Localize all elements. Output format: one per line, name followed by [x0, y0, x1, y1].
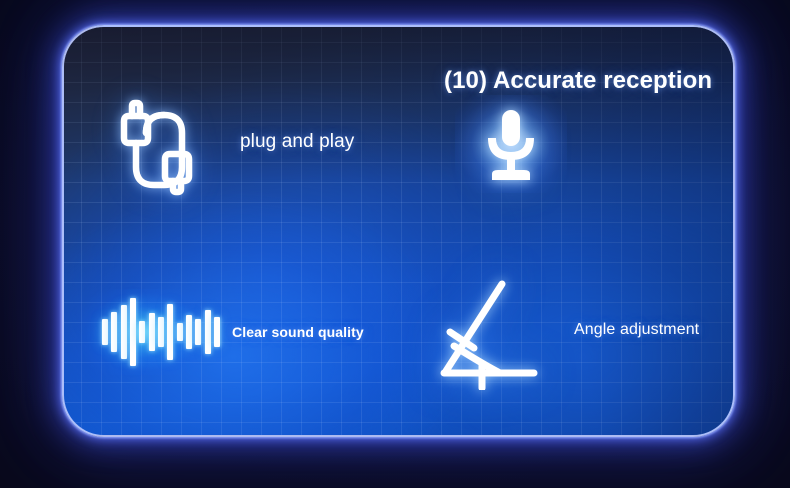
sound-wave-bar [186, 315, 192, 349]
sound-wave-bar [121, 305, 127, 359]
sound-wave-bar [149, 313, 155, 351]
angle-icon [434, 270, 542, 390]
microphone-icon-wrapper [456, 107, 566, 185]
feature-angle-adjustment: Angle adjustment [420, 255, 720, 405]
microphone-icon [480, 110, 542, 182]
feature-plug-and-play: plug and play [92, 67, 432, 217]
sound-wave-icon [102, 296, 220, 368]
sound-wave-bar [139, 321, 145, 343]
feature-label: (10) Accurate reception [444, 67, 712, 95]
feature-card: plug and play (10) Accurate reception [62, 25, 735, 437]
sound-wave-bar [177, 323, 183, 341]
sound-wave-bar [158, 317, 164, 347]
feature-label: plug and play [240, 131, 354, 153]
feature-label: Angle adjustment [574, 321, 699, 339]
sound-wave-bar [111, 312, 117, 352]
feature-clear-sound-quality: Clear sound quality [92, 272, 432, 392]
feature-label: Clear sound quality [232, 324, 364, 340]
sound-wave-bar [195, 319, 201, 345]
feature-accurate-reception: (10) Accurate reception [420, 67, 720, 217]
promo-graphic: plug and play (10) Accurate reception [0, 0, 790, 488]
usb-cable-icon [102, 85, 212, 200]
sound-wave-bar [205, 310, 211, 354]
sound-wave-bar [102, 319, 108, 345]
sound-wave-bar [167, 304, 173, 360]
sound-wave-bar [130, 298, 136, 366]
sound-wave-bar [214, 317, 220, 347]
